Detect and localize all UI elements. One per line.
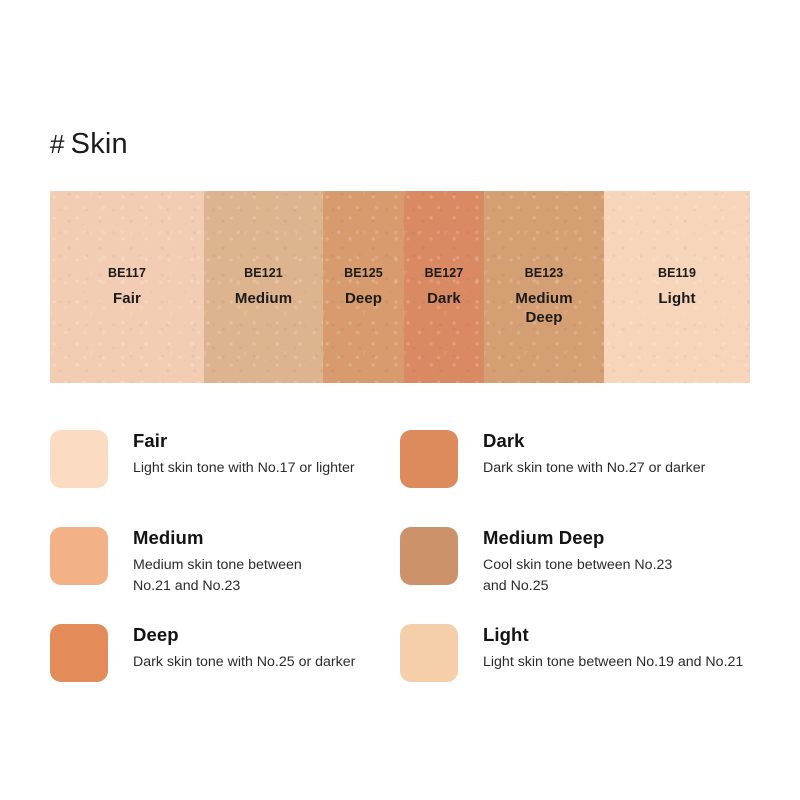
skin-shade-guide-page: { "page": { "title_prefix": "#", "title"… (0, 0, 800, 800)
page-title-text: Skin (71, 128, 128, 160)
swatch-code: BE121 (244, 267, 283, 281)
legend-color-chip (50, 527, 108, 585)
swatch-segment[interactable]: BE117Fair (50, 191, 204, 383)
swatch-name: Fair (113, 290, 141, 309)
page-title: #Skin (50, 128, 128, 161)
swatch-name: Medium (235, 290, 292, 309)
legend-text-block: FairLight skin tone with No.17 or lighte… (133, 428, 355, 479)
swatch-name: Dark (427, 290, 461, 309)
legend-color-chip (400, 430, 458, 488)
legend-item[interactable]: LightLight skin tone between No.19 and N… (400, 622, 770, 719)
legend-title: Dark (483, 429, 705, 452)
swatch-code: BE127 (425, 267, 464, 281)
legend-title: Medium Deep (483, 526, 672, 549)
legend-description: Dark skin tone with No.27 or darker (483, 458, 705, 479)
legend-color-chip (50, 624, 108, 682)
legend-title: Deep (133, 623, 355, 646)
legend-text-block: MediumMedium skin tone between No.21 and… (133, 525, 302, 596)
legend-description: Light skin tone with No.17 or lighter (133, 458, 355, 479)
legend-description: Medium skin tone between No.21 and No.23 (133, 555, 302, 596)
legend-title: Light (483, 623, 743, 646)
legend-item[interactable]: MediumMedium skin tone between No.21 and… (50, 525, 400, 622)
skin-shade-swatch-bar: BE117FairBE121MediumBE125DeepBE127DarkBE… (50, 191, 750, 383)
legend-item[interactable]: DarkDark skin tone with No.27 or darker (400, 428, 770, 525)
swatch-segment[interactable]: BE121Medium (204, 191, 323, 383)
legend-text-block: DarkDark skin tone with No.27 or darker (483, 428, 705, 479)
swatch-code: BE123 (525, 267, 564, 281)
legend-text-block: Medium DeepCool skin tone between No.23 … (483, 525, 672, 596)
legend-title: Fair (133, 429, 355, 452)
legend-text-block: LightLight skin tone between No.19 and N… (483, 622, 743, 673)
swatch-code: BE117 (108, 267, 146, 281)
legend-title: Medium (133, 526, 302, 549)
page-title-hash: # (50, 129, 65, 159)
swatch-segment[interactable]: BE119Light (604, 191, 750, 383)
swatch-name: Medium Deep (515, 290, 572, 328)
legend-item[interactable]: FairLight skin tone with No.17 or lighte… (50, 428, 400, 525)
swatch-code: BE125 (344, 267, 383, 281)
legend-color-chip (400, 624, 458, 682)
swatch-code: BE119 (658, 267, 696, 281)
legend-text-block: DeepDark skin tone with No.25 or darker (133, 622, 355, 673)
legend-color-chip (50, 430, 108, 488)
skin-shade-legend: FairLight skin tone with No.17 or lighte… (50, 428, 770, 719)
swatch-name: Light (658, 290, 695, 309)
legend-color-chip (400, 527, 458, 585)
swatch-segment[interactable]: BE127Dark (404, 191, 484, 383)
swatch-segment[interactable]: BE123Medium Deep (484, 191, 604, 383)
legend-description: Dark skin tone with No.25 or darker (133, 652, 355, 673)
swatch-segment[interactable]: BE125Deep (323, 191, 404, 383)
legend-item[interactable]: DeepDark skin tone with No.25 or darker (50, 622, 400, 719)
legend-description: Cool skin tone between No.23 and No.25 (483, 555, 672, 596)
legend-item[interactable]: Medium DeepCool skin tone between No.23 … (400, 525, 770, 622)
swatch-name: Deep (345, 290, 382, 309)
legend-description: Light skin tone between No.19 and No.21 (483, 652, 743, 673)
